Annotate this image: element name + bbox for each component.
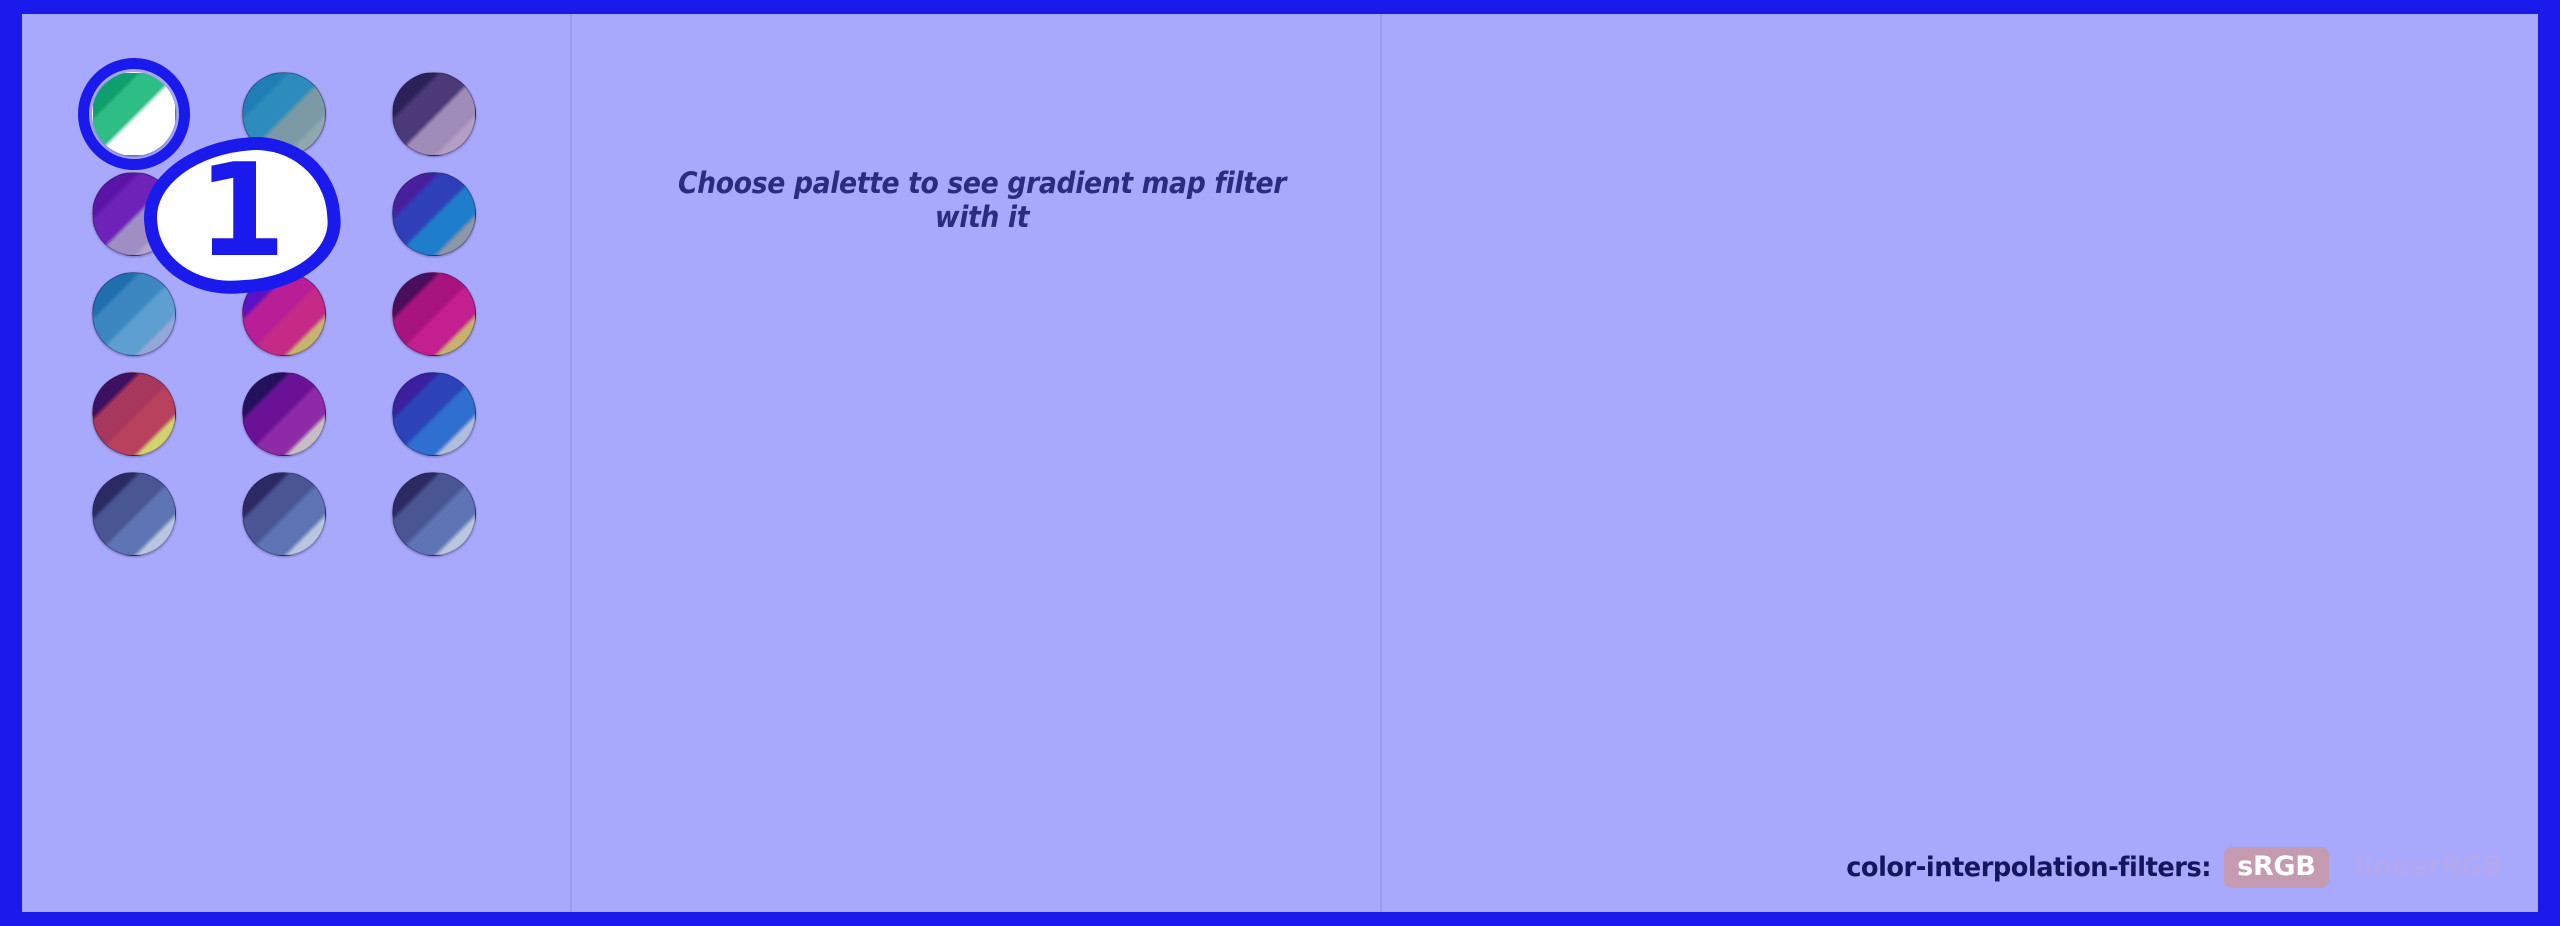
palette-swatch[interactable] xyxy=(392,372,476,456)
color-interpolation-filters-row: color-interpolation-filters: sRGBlinearR… xyxy=(1827,847,2516,888)
palette-swatch[interactable] xyxy=(92,472,176,556)
palette-panel: 1 xyxy=(22,14,572,912)
preview-panel: Choose File No file chosen xyxy=(1382,14,2538,912)
cif-option-linearrgb[interactable]: linearRGB xyxy=(2342,847,2516,888)
palette-swatch[interactable] xyxy=(92,72,176,156)
palette-swatch[interactable] xyxy=(92,172,176,256)
palette-swatch[interactable] xyxy=(392,472,476,556)
palette-swatch[interactable] xyxy=(242,372,326,456)
palette-swatch[interactable] xyxy=(92,272,176,356)
hint-panel: Choose palette to see gradient map filte… xyxy=(572,14,1382,912)
palette-swatch[interactable] xyxy=(92,372,176,456)
palette-swatch[interactable] xyxy=(392,272,476,356)
color-interpolation-filters-label: color-interpolation-filters: xyxy=(1846,852,2211,883)
app-frame: 1 Choose palette to see gradient map fil… xyxy=(22,14,2538,912)
palette-swatch[interactable] xyxy=(242,72,326,156)
palette-swatch[interactable] xyxy=(392,172,476,256)
palette-swatch[interactable] xyxy=(392,72,476,156)
palette-swatch-grid xyxy=(92,72,492,572)
palette-swatch[interactable] xyxy=(242,472,326,556)
palette-swatch[interactable] xyxy=(242,272,326,356)
palette-swatch[interactable] xyxy=(242,172,326,256)
hint-text: Choose palette to see gradient map filte… xyxy=(646,166,1318,234)
cif-option-srgb[interactable]: sRGB xyxy=(2224,847,2328,888)
